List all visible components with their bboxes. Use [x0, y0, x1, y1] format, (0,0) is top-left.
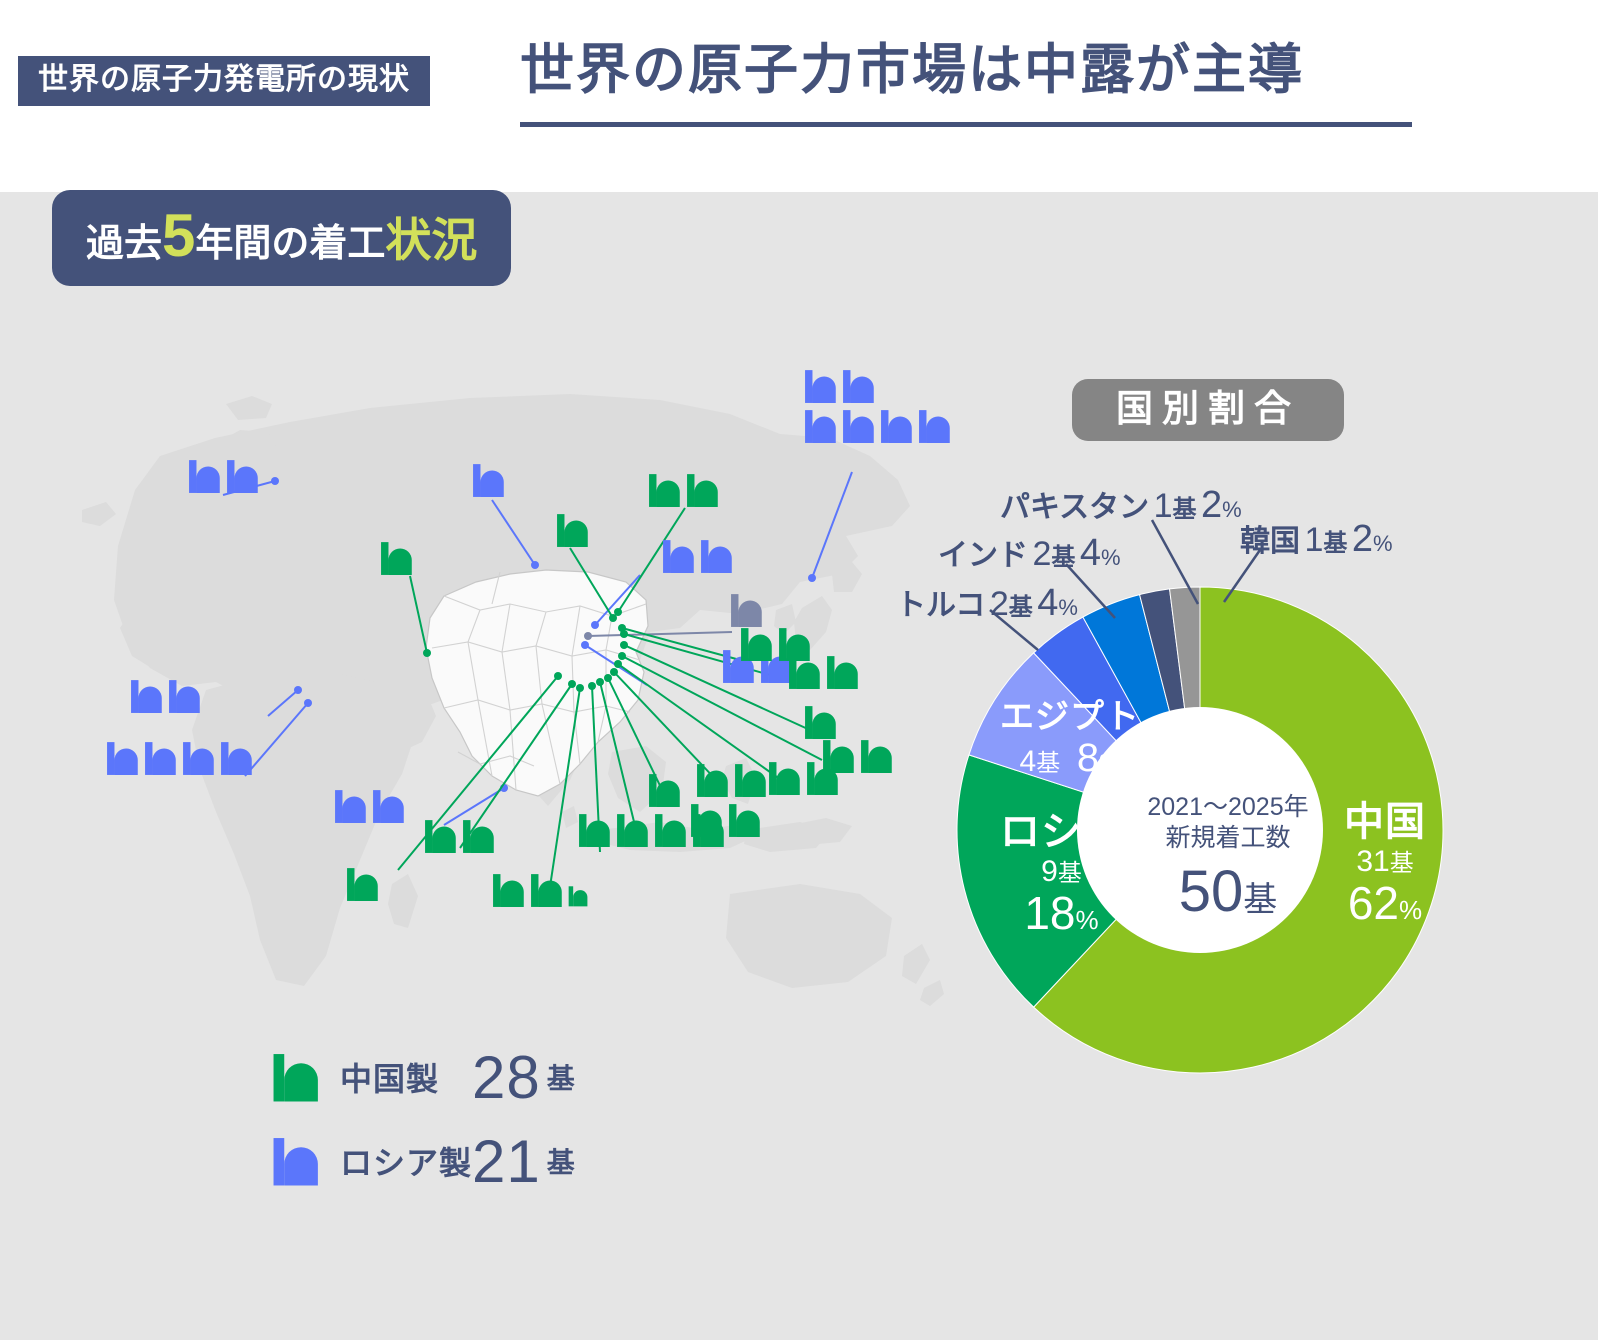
- donut-callout-turkey: トルコ 2基 4%: [896, 584, 1078, 622]
- nuclear-plant-icon: [272, 1051, 324, 1103]
- donut-label-egypt-units: 4基 8%: [1000, 736, 1140, 781]
- donut-label-china-pct: 62%: [1344, 878, 1426, 930]
- donut-center-total: 50基: [1179, 856, 1278, 929]
- donut-center-text: 2021〜2025年 新規着工数 50基: [1123, 755, 1333, 965]
- legend-item-russia: ロシア製 21 基: [272, 1119, 575, 1203]
- map-cluster-south-indian: [493, 874, 587, 907]
- donut-label-egypt-name: エジプト: [1000, 698, 1140, 736]
- donut-center-period: 2021〜2025年: [1147, 792, 1308, 823]
- donut-callout-korea: 韓国 1基 2%: [1240, 520, 1393, 558]
- donut-center-caption: 新規着工数: [1165, 823, 1290, 854]
- badge-number: 5: [162, 202, 195, 269]
- legend-value-russia: 21: [472, 1127, 541, 1196]
- donut-total-unit: 基: [1243, 881, 1277, 919]
- donut-label-china-units: 31基: [1344, 845, 1426, 879]
- badge-mid-text: 年間の着工: [195, 223, 385, 265]
- legend-label-china: 中国製: [340, 1054, 472, 1100]
- donut-label-russia-pct: 18%: [1000, 888, 1123, 940]
- donut-label-china: 中国 31基 62%: [1344, 800, 1426, 930]
- legend-unit-russia: 基: [547, 1141, 575, 1181]
- map-cluster-pacific-7: [649, 774, 680, 807]
- map-cluster-africa-south: [347, 868, 378, 901]
- infographic-root: 世界の原子力発電所の現状 世界の原子力市場は中露が主導 過去5年間の着工状況 国…: [0, 0, 1600, 1340]
- donut-label-china-name: 中国: [1344, 800, 1426, 845]
- nuclear-plant-icon: [272, 1135, 324, 1187]
- map-cluster-pacific-4: [823, 740, 892, 773]
- legend-label-russia: ロシア製: [340, 1138, 472, 1184]
- title-underline: [520, 122, 1412, 127]
- map-cluster-pacific-2: [789, 656, 858, 689]
- donut-callout-india: インド 2基 4%: [938, 534, 1121, 572]
- map-leader-dot-korea: [584, 632, 592, 640]
- donut-callout-pakistan: パキスタン 1基 2%: [1000, 486, 1242, 524]
- map-legend: 中国製 28 基 ロシア製 21 基: [272, 1035, 575, 1203]
- donut-label-egypt: エジプト 4基 8%: [1000, 698, 1140, 781]
- donut-label-russia-units: 9基: [1000, 855, 1123, 889]
- badge-pre-text: 過去: [86, 223, 162, 265]
- ratio-badge: 国別割合: [1072, 379, 1344, 441]
- header: 世界の原子力発電所の現状 世界の原子力市場は中露が主導: [0, 0, 1600, 190]
- donut-label-russia-name: ロシア: [1000, 810, 1123, 855]
- page-title: 世界の原子力市場は中露が主導: [520, 42, 1304, 99]
- legend-unit-china: 基: [547, 1057, 575, 1097]
- kicker-badge: 世界の原子力発電所の現状: [18, 56, 430, 106]
- legend-item-china: 中国製 28 基: [272, 1035, 575, 1119]
- map-cluster-pacific-3: [805, 706, 836, 739]
- donut-total-number: 50: [1179, 859, 1244, 924]
- donut-label-russia: ロシア 9基 18%: [1000, 810, 1123, 940]
- world-map: [40, 360, 970, 1020]
- legend-value-china: 28: [472, 1043, 541, 1112]
- map-cluster-russia-north: [805, 370, 950, 443]
- five-year-badge: 過去5年間の着工状況: [52, 190, 511, 286]
- badge-highlight-text: 状況: [385, 214, 477, 266]
